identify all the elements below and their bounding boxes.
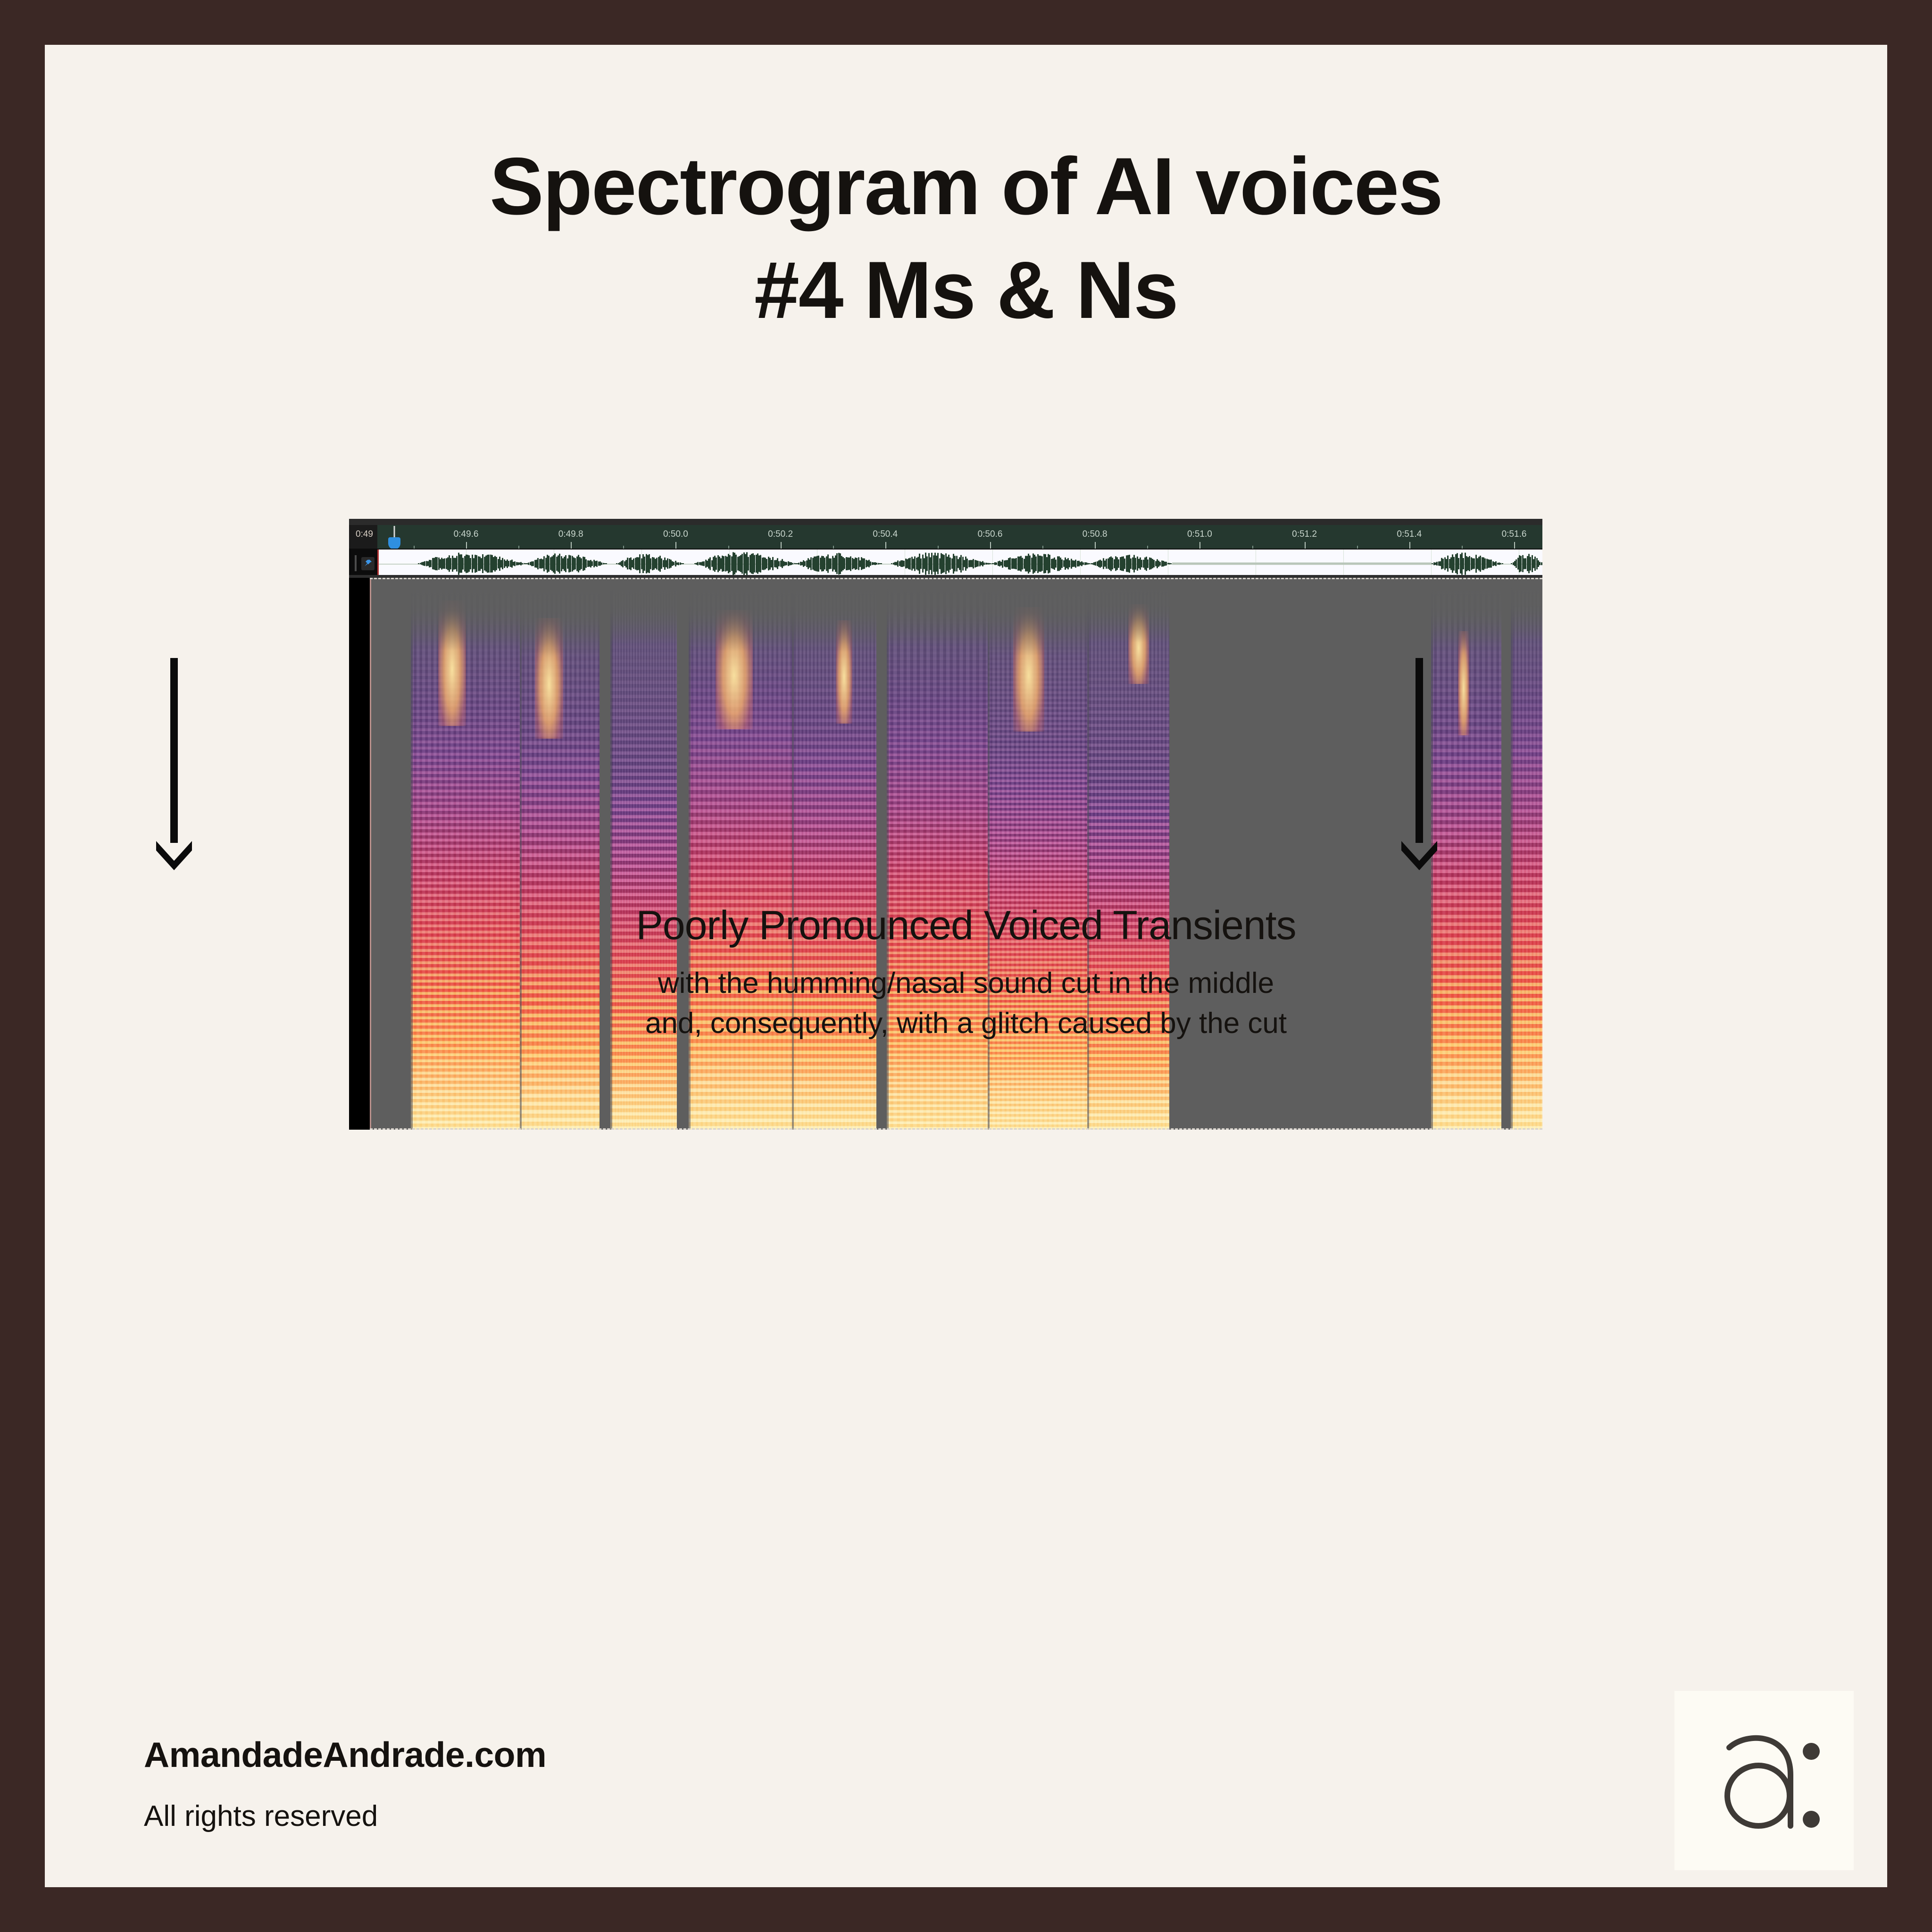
spectrogram-voiced-segment [411,578,520,1130]
ruler-tick-label: 0:50.4 [873,529,898,540]
logo-a-colon-icon [1674,1691,1854,1870]
footer-rights: All rights reserved [144,1799,378,1833]
caption-subline-1: with the humming/nasal sound cut in the … [45,963,1887,1004]
spectrogram-voiced-segment [1087,578,1169,1130]
ruler-tick-label: 0:51.2 [1292,529,1317,540]
spectrogram-voiced-segment [792,578,876,1130]
caption-subline-2: and, consequently, with a glitch caused … [45,1003,1887,1044]
footer-website[interactable]: AmandadeAndrade.com [144,1734,546,1775]
spectrogram-top-fade [411,578,520,651]
waveform-canvas[interactable] [377,550,1542,578]
spectrogram-top-fade [1087,578,1169,642]
poster-canvas: Spectrogram of AI voices #4 Ms & Ns 0:49… [0,0,1932,1932]
ruler-tick-label: 0:49 [356,529,373,540]
spectrogram-top-fade [887,578,988,647]
spectrogram-voiced-segment [520,578,600,1130]
page-title: Spectrogram of AI voices #4 Ms & Ns [45,134,1887,342]
spectrogram-segment-edge [1087,578,1089,1130]
spectrogram-voiced-segment [689,578,792,1130]
ruler-tick-label: 0:49.8 [558,529,583,540]
spectrogram-top-fade [988,578,1087,656]
spectrogram-top-fade [792,578,876,652]
waveform-sample [1502,563,1503,564]
editor-top-rail [349,519,1542,525]
spectrogram-top-fade [689,578,792,651]
title-line-1: Spectrogram of AI voices [45,134,1887,238]
spectrogram-segment-edge [887,578,889,1130]
annotation-arrow-left [170,658,178,870]
ruler-tick-label: 0:50.6 [978,529,1003,540]
title-line-2: #4 Ms & Ns [45,238,1887,342]
ruler-tick-label: 0:49.6 [454,529,479,540]
edit-cursor [377,550,379,578]
ruler-tick-label: 0:50.2 [768,529,793,540]
brand-logo [1674,1691,1854,1870]
spectrogram-top-fade [1431,578,1501,652]
spectrogram-voiced-segment [887,578,988,1130]
waveform-track[interactable] [349,550,1542,578]
spectrogram-top-fade [1511,578,1542,641]
poster-card: Spectrogram of AI voices #4 Ms & Ns 0:49… [45,45,1887,1887]
spectrogram-canvas[interactable] [370,578,1542,1130]
ruler-tick-label: 0:51.0 [1187,529,1212,540]
timeline-ruler[interactable]: 0:490:49.60:49.80:50.00:50.20:50.40:50.6… [349,525,1542,550]
spectrogram-segment-edge [1511,578,1513,1130]
waveform-sample [683,563,684,564]
track-header[interactable] [349,550,378,578]
spectrogram-top-fade [520,578,600,658]
waveform-sample [606,563,607,564]
ruler-tick-label: 0:50.0 [663,529,688,540]
spectrogram-segment-edge [988,578,990,1130]
spectrogram-voiced-segment [610,578,677,1130]
spectrogram-top-fade [610,578,677,646]
waveform-sample [881,563,882,564]
waveform-silence [1172,563,1432,565]
track-level-bar [355,555,357,571]
spectrogram-voiced-segment [988,578,1087,1130]
spectrogram-segment-edge [520,578,522,1130]
ruler-tick-label: 0:50.8 [1083,529,1108,540]
annotation-caption: Poorly Pronounced Voiced Transients with… [45,903,1887,1044]
spectrogram-voiced-segment [1431,578,1501,1130]
pin-icon[interactable] [361,557,375,570]
playhead-handle[interactable] [388,537,400,550]
spectrogram-pane[interactable] [349,578,1542,1130]
spectrogram-left-gutter [349,578,370,1130]
spectrogram-segment-edge [610,578,612,1130]
spectrogram-segment-edge [792,578,794,1130]
annotation-arrow-right [1416,658,1423,870]
spectrogram-voiced-segment [1511,578,1542,1130]
caption-heading: Poorly Pronounced Voiced Transients [45,903,1887,948]
ruler-tick-label: 0:51.6 [1502,529,1527,540]
selection-left-edge [370,578,371,1130]
spectrogram-segment-edge [689,578,691,1130]
spectrogram-segment-edge [411,578,413,1130]
ruler-tick-label: 0:51.4 [1397,529,1422,540]
